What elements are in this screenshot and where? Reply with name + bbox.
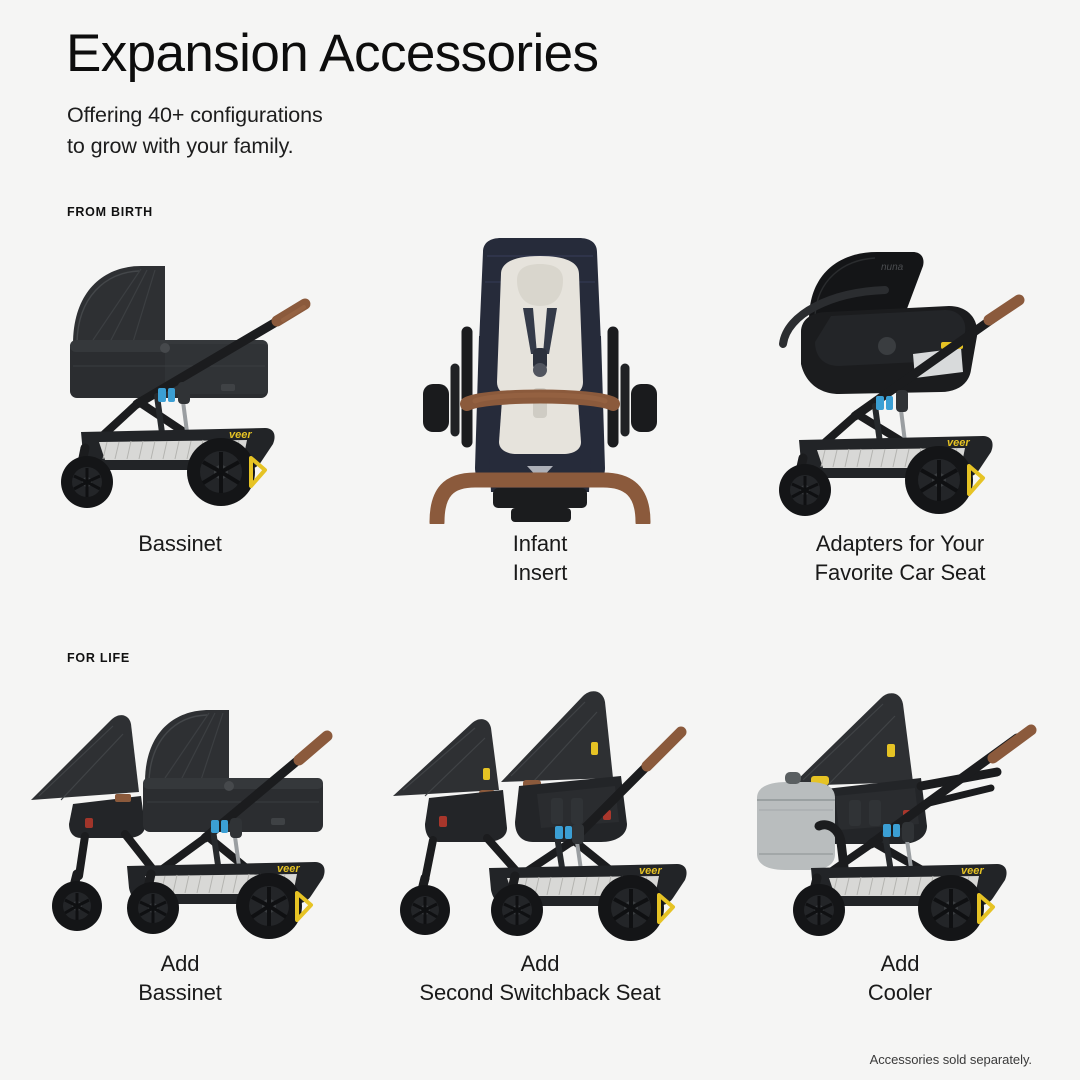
product-cell-car-seat-adapters[interactable]: nuna	[720, 236, 1080, 587]
stroller-with-cooler-figure: veer	[735, 676, 1065, 944]
product-cell-bassinet[interactable]: veer	[0, 236, 360, 587]
product-cell-add-bassinet[interactable]: veer	[0, 676, 360, 1007]
page-subtitle-line-1: Offering 40+ configurations	[67, 100, 323, 131]
caption-line-2: Cooler	[868, 979, 932, 1008]
veer-brand-mark: veer	[229, 429, 252, 441]
expansion-accessories-page: Expansion Accessories Offering 40+ confi…	[0, 0, 1080, 1080]
product-caption-car-seat-adapters: Adapters for Your Favorite Car Seat	[815, 530, 986, 587]
svg-text:nuna: nuna	[881, 262, 904, 273]
caption-line-2: Insert	[513, 559, 567, 588]
product-row-for-life: veer	[0, 676, 1080, 1007]
product-cell-infant-insert[interactable]: Infant Insert	[360, 236, 720, 587]
caption-line-1: Adapters for Your	[815, 530, 986, 559]
product-caption-bassinet: Bassinet	[138, 530, 222, 559]
caption-line-2: Favorite Car Seat	[815, 559, 986, 588]
veer-brand-mark: veer	[277, 863, 300, 875]
product-cell-add-cooler[interactable]: veer	[720, 676, 1080, 1007]
section-label-for-life: FOR LIFE	[67, 651, 130, 665]
footnote-accessories-sold-separately: Accessories sold separately.	[870, 1052, 1032, 1067]
caption-line-1: Bassinet	[138, 530, 222, 559]
caption-line-1: Add	[138, 950, 222, 979]
section-label-from-birth: FROM BIRTH	[67, 205, 153, 219]
infant-insert-top-view-figure	[375, 236, 705, 524]
double-switchback-seats-figure: veer	[375, 676, 705, 944]
product-cell-second-switchback-seat[interactable]: veer	[360, 676, 720, 1007]
product-caption-add-bassinet: Add Bassinet	[138, 950, 222, 1007]
page-subtitle-line-2: to grow with your family.	[67, 131, 323, 162]
veer-brand-mark: veer	[961, 865, 984, 877]
stroller-with-bassinet-figure: veer	[15, 236, 345, 524]
caption-line-1: Infant	[513, 530, 567, 559]
caption-line-2: Second Switchback Seat	[419, 979, 660, 1008]
product-caption-second-switchback-seat: Add Second Switchback Seat	[419, 950, 660, 1007]
product-row-from-birth: veer	[0, 236, 1080, 587]
caption-line-2: Bassinet	[138, 979, 222, 1008]
page-title: Expansion Accessories	[66, 22, 598, 86]
double-seat-plus-bassinet-figure: veer	[15, 676, 345, 944]
product-caption-add-cooler: Add Cooler	[868, 950, 932, 1007]
stroller-with-car-seat-figure: nuna	[735, 236, 1065, 524]
veer-brand-mark: veer	[947, 437, 970, 449]
caption-line-1: Add	[419, 950, 660, 979]
page-subtitle: Offering 40+ configurations to grow with…	[67, 100, 323, 162]
caption-line-1: Add	[868, 950, 932, 979]
product-caption-infant-insert: Infant Insert	[513, 530, 567, 587]
veer-brand-mark: veer	[639, 865, 662, 877]
